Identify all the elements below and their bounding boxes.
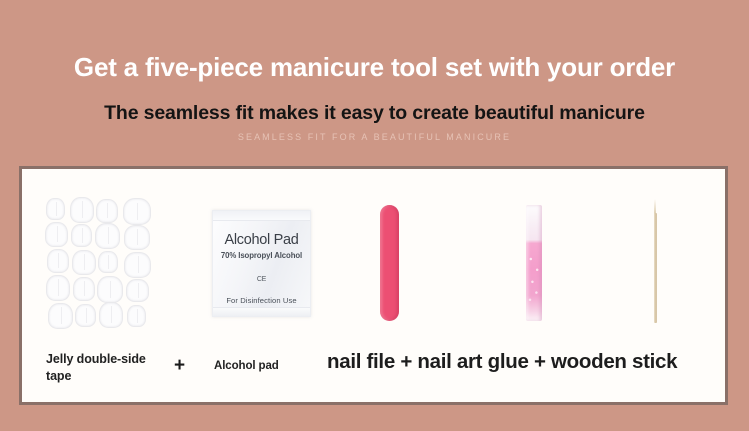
page-headline: Get a five-piece manicure tool set with … bbox=[0, 52, 749, 82]
adhesive-tab bbox=[95, 223, 120, 249]
adhesive-tab bbox=[126, 279, 149, 302]
pink-nail-glue-bottle-image bbox=[526, 205, 542, 321]
adhesive-tab bbox=[124, 252, 151, 278]
sachet-subtitle: 70% Isopropyl Alcohol bbox=[213, 251, 310, 260]
product-set-panel: Alcohol Pad 70% Isopropyl Alcohol CE For… bbox=[19, 166, 728, 405]
adhesive-tab bbox=[97, 276, 123, 303]
pink-nail-file-image bbox=[380, 205, 399, 321]
product-label-combined: nail file + nail art glue + wooden stick bbox=[327, 349, 677, 375]
adhesive-tab bbox=[70, 197, 94, 223]
adhesive-tab bbox=[72, 250, 96, 275]
adhesive-tab bbox=[124, 225, 150, 250]
adhesive-tab bbox=[48, 303, 73, 329]
page-tagline: SEAMLESS FIT FOR A BEAUTIFUL MANICURE bbox=[0, 131, 749, 143]
adhesive-tab bbox=[99, 302, 123, 328]
ce-mark: CE bbox=[213, 276, 310, 283]
product-images-row: Alcohol Pad 70% Isopropyl Alcohol CE For… bbox=[22, 169, 725, 334]
adhesive-tab bbox=[46, 275, 70, 301]
adhesive-tab bbox=[46, 198, 65, 220]
glue-glitter bbox=[526, 247, 542, 307]
product-labels-row: Jelly double-side tape + Alcohol pad nai… bbox=[22, 339, 725, 402]
adhesive-tab bbox=[47, 249, 69, 273]
product-label-alcohol-pad: Alcohol pad bbox=[214, 358, 279, 374]
stick-body bbox=[654, 213, 657, 323]
product-set-panel-inner: Alcohol Pad 70% Isopropyl Alcohol CE For… bbox=[22, 169, 725, 402]
adhesive-tab bbox=[71, 224, 92, 247]
sachet-title: Alcohol Pad bbox=[213, 232, 310, 248]
plus-separator: + bbox=[174, 354, 185, 378]
adhesive-tab bbox=[127, 305, 146, 327]
jelly-double-side-tape-sheet-image bbox=[44, 196, 161, 329]
adhesive-tab bbox=[98, 251, 118, 273]
adhesive-tab bbox=[123, 198, 151, 225]
product-label-jelly-tape: Jelly double-side tape bbox=[46, 351, 156, 385]
alcohol-pad-sachet-image: Alcohol Pad 70% Isopropyl Alcohol CE For… bbox=[212, 210, 311, 317]
sachet-footer: For Disinfection Use bbox=[213, 296, 310, 305]
adhesive-tab bbox=[96, 199, 118, 223]
adhesive-tab bbox=[75, 304, 96, 327]
adhesive-tab bbox=[45, 222, 68, 247]
adhesive-tab bbox=[73, 277, 95, 301]
page-subheadline: The seamless fit makes it easy to create… bbox=[0, 101, 749, 125]
wooden-cuticle-stick-image bbox=[653, 199, 658, 323]
